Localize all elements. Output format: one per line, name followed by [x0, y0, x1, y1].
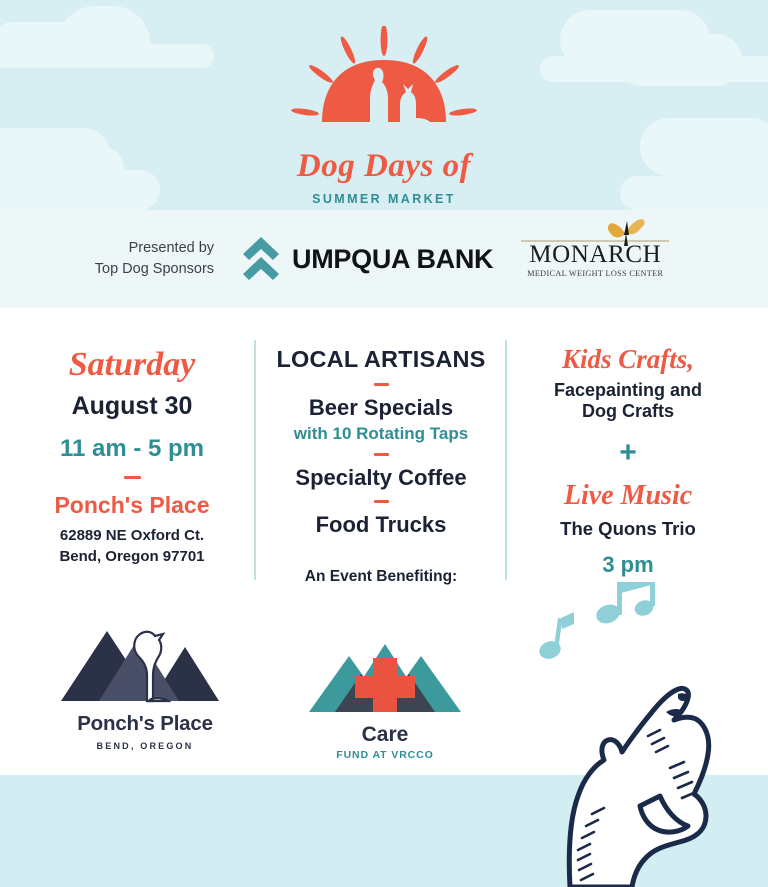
band-name: The Quons Trio: [512, 518, 744, 540]
local-artisans-heading: LOCAL ARTISANS: [262, 346, 500, 374]
event-logo: Dog Days of SUMMER MARKET: [0, 26, 768, 206]
event-poster: Dog Days of SUMMER MARKET Presented by T…: [0, 0, 768, 887]
column-offerings: LOCAL ARTISANS Beer Specials with 10 Rot…: [262, 308, 500, 586]
dash-separator: [374, 383, 389, 386]
care-fund-mountain-cross-logo-icon: [305, 703, 465, 720]
howling-dog-illustration: [548, 650, 768, 887]
presented-by-line2: Top Dog Sponsors: [95, 259, 214, 280]
event-day: Saturday: [20, 348, 244, 382]
event-date: August 30: [20, 392, 244, 422]
monarch-name: MONARCH: [517, 242, 673, 268]
band-time: 3 pm: [512, 552, 744, 578]
ponch-place-mountain-dog-logo-icon: [55, 690, 235, 707]
benefiting-label: An Event Benefiting:: [262, 568, 500, 586]
address-line-1: 62889 NE Oxford Ct.: [20, 525, 244, 546]
ponch-place-location: BEND, OREGON: [55, 741, 235, 751]
dash-separator: [374, 500, 389, 503]
live-music-heading: Live Music: [512, 482, 744, 510]
brand-script-title: Dog Days of: [0, 150, 768, 183]
sponsor-band: Presented by Top Dog Sponsors UMPQUA BAN…: [0, 210, 768, 308]
facepainting-line-2: Dog Crafts: [512, 401, 744, 422]
venue-name: Ponch's Place: [20, 492, 244, 519]
brand-subtitle: SUMMER MARKET: [0, 192, 768, 206]
monarch-butterfly-icon: [603, 218, 649, 253]
address-line-2: Bend, Oregon 97701: [20, 546, 244, 567]
facepainting-label: Facepainting and Dog Crafts: [512, 380, 744, 422]
ponch-place-logo[interactable]: Ponch's Place BEND, OREGON: [55, 613, 235, 751]
column-divider: [505, 340, 507, 580]
venue-address: 62889 NE Oxford Ct. Bend, Oregon 97701: [20, 525, 244, 568]
plus-separator-icon: +: [512, 438, 744, 468]
food-trucks-label: Food Trucks: [262, 512, 500, 538]
monarch-subtitle: MEDICAL WEIGHT LOSS CENTER: [517, 269, 673, 278]
rotating-taps-label: with 10 Rotating Taps: [262, 424, 500, 444]
sun-dog-cat-logo-icon: [274, 26, 494, 144]
dash-separator: [374, 453, 389, 456]
column-divider: [254, 340, 256, 580]
umpqua-bank-name: UMPQUA BANK: [292, 244, 493, 275]
ponch-place-name: Ponch's Place: [55, 712, 235, 736]
kids-crafts-heading: Kids Crafts,: [512, 346, 744, 373]
care-fund-logo[interactable]: Care FUND AT VRCCO: [305, 628, 465, 761]
dash-separator: [124, 476, 141, 480]
presented-by-text: Presented by Top Dog Sponsors: [95, 238, 214, 280]
specialty-coffee-label: Specialty Coffee: [262, 465, 500, 491]
umpqua-chevron-icon: [240, 233, 282, 286]
care-fund-subtitle: FUND AT VRCCO: [305, 749, 465, 761]
event-time: 11 am - 5 pm: [20, 435, 244, 463]
presented-by-line1: Presented by: [95, 238, 214, 259]
facepainting-line-1: Facepainting and: [512, 380, 744, 401]
care-fund-name: Care: [305, 723, 465, 747]
beer-specials-label: Beer Specials: [262, 395, 500, 421]
umpqua-bank-logo[interactable]: UMPQUA BANK: [240, 233, 493, 286]
monarch-logo[interactable]: MONARCH MEDICAL WEIGHT LOSS CENTER: [517, 240, 673, 278]
column-event-details: Saturday August 30 11 am - 5 pm Ponch's …: [20, 308, 244, 568]
column-activities: Kids Crafts, Facepainting and Dog Crafts…: [512, 308, 744, 578]
